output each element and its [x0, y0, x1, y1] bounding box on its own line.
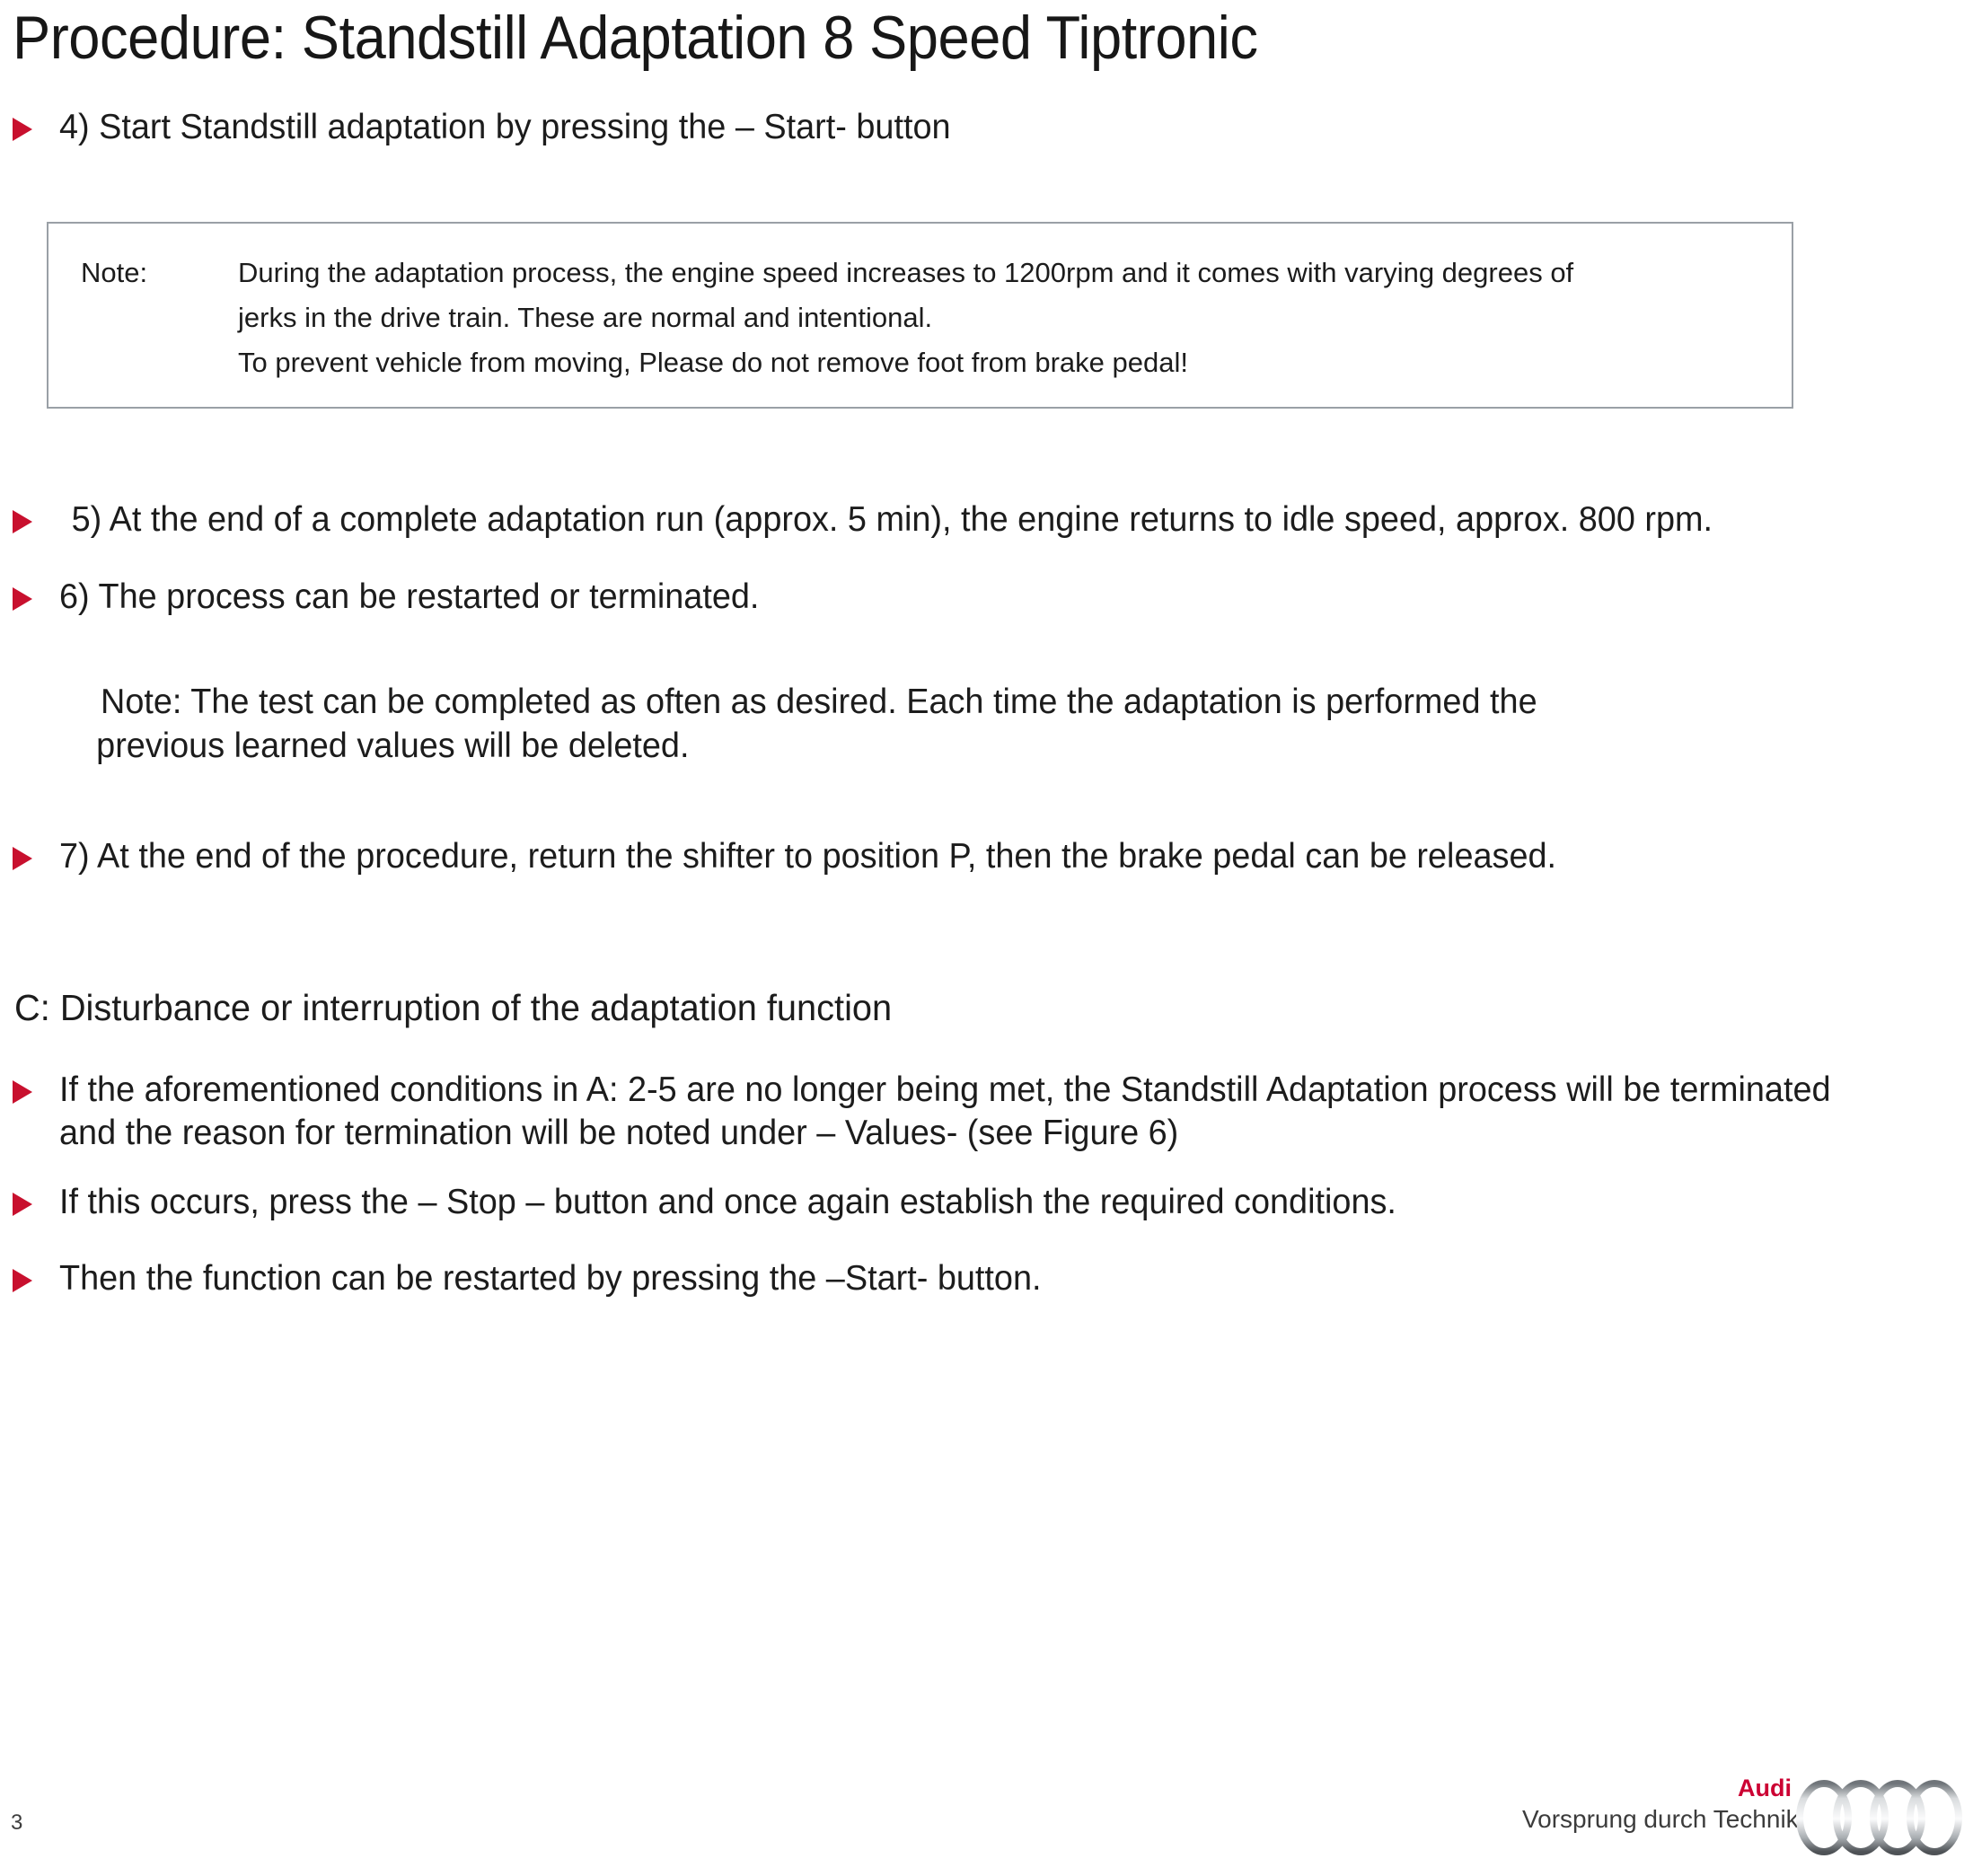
bullet-item-step-7: 7) At the end of the procedure, return t…	[0, 835, 1973, 878]
note-body-line-1: During the adaptation process, the engin…	[238, 251, 1768, 295]
note-line-3: To prevent vehicle from moving, Please d…	[81, 340, 1768, 385]
triangle-bullet-icon	[13, 1257, 59, 1292]
bullet-item-step-6: 6) The process can be restarted or termi…	[0, 576, 1973, 619]
triangle-bullet-icon	[13, 1181, 59, 1216]
bullet-text-c-1: If the aforementioned conditions in A: 2…	[59, 1069, 1916, 1156]
section-heading-c: C: Disturbance or interruption of the ad…	[14, 986, 892, 1030]
slide-canvas: Procedure: Standstill Adaptation 8 Speed…	[0, 0, 1973, 1876]
inline-note-line-1: Note: The test can be completed as often…	[101, 681, 1800, 725]
bullet-text-step-7: 7) At the end of the procedure, return t…	[59, 835, 1916, 878]
page-number: 3	[11, 1810, 22, 1836]
note-line-1: Note: During the adaptation process, the…	[81, 251, 1768, 295]
bullet-text-step-4: 4) Start Standstill adaptation by pressi…	[59, 106, 1916, 149]
note-line-2: jerks in the drive train. These are norm…	[81, 295, 1768, 340]
triangle-bullet-icon	[13, 1069, 59, 1104]
audi-rings-icon	[1795, 1778, 1966, 1857]
bullet-text-step-5: 5) At the end of a complete adaptation r…	[59, 498, 1916, 542]
triangle-bullet-icon	[13, 835, 59, 870]
audi-brand-name: Audi	[1522, 1776, 1792, 1801]
audi-wordmark: Audi Vorsprung durch Technik	[1522, 1776, 1792, 1832]
note-body-line-3: To prevent vehicle from moving, Please d…	[238, 340, 1768, 385]
triangle-bullet-icon	[13, 498, 59, 533]
bullet-text-c-1-line-1: If the aforementioned conditions in A: 2…	[59, 1070, 1660, 1109]
audi-brand-claim: Vorsprung durch Technik	[1522, 1806, 1792, 1832]
bullet-item-c-1: If the aforementioned conditions in A: 2…	[0, 1069, 1973, 1156]
bullet-text-c-2: If this occurs, press the – Stop – butto…	[59, 1181, 1916, 1224]
inline-note-paragraph: Note: The test can be completed as often…	[101, 681, 1800, 769]
bullet-text-step-6: 6) The process can be restarted or termi…	[59, 576, 1916, 619]
bullet-text-c-3: Then the function can be restarted by pr…	[59, 1257, 1916, 1300]
note-label-spacer-2	[81, 340, 238, 385]
triangle-bullet-icon	[13, 576, 59, 611]
note-label: Note:	[81, 251, 238, 295]
note-callout-box: Note: During the adaptation process, the…	[47, 222, 1793, 409]
bullet-item-c-3: Then the function can be restarted by pr…	[0, 1257, 1973, 1300]
page-title: Procedure: Standstill Adaptation 8 Speed…	[13, 7, 1766, 68]
triangle-bullet-icon	[13, 106, 59, 141]
bullet-item-c-2: If this occurs, press the – Stop – butto…	[0, 1181, 1973, 1224]
inline-note-line-2: previous learned values will be deleted.	[96, 725, 1799, 769]
audi-logo: Audi Vorsprung durch Technik	[1625, 1776, 1966, 1863]
bullet-item-step-4: 4) Start Standstill adaptation by pressi…	[0, 106, 1973, 149]
note-label-spacer	[81, 295, 238, 340]
bullet-item-step-5: 5) At the end of a complete adaptation r…	[0, 498, 1973, 542]
note-body-line-2: jerks in the drive train. These are norm…	[238, 295, 1768, 340]
